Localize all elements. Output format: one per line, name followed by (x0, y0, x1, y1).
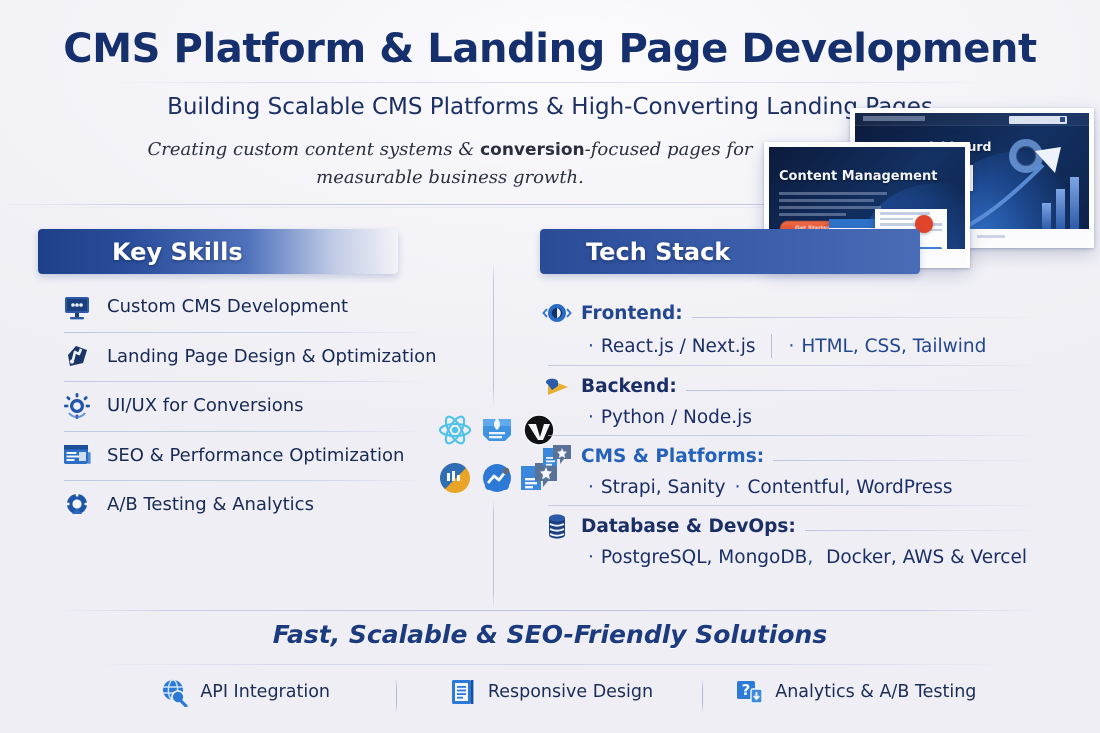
stack-category-label: Database & DevOps: (581, 516, 796, 537)
title-divider (108, 82, 992, 83)
footer-item-analytics-testing[interactable]: ? Analytics & A/B Testing (703, 677, 1008, 707)
chat-document-icon (542, 441, 572, 471)
tagline-part-1: Creating custom content systems & (147, 139, 480, 160)
stack-category-label: CMS & Platforms: (581, 446, 764, 467)
code-eye-icon (542, 298, 572, 328)
footer-item-label: API Integration (200, 682, 330, 702)
database-icon (542, 511, 572, 541)
dashboard-mockup-browser-bar (855, 113, 1089, 126)
footer-item-responsive-design[interactable]: Responsive Design (397, 677, 702, 707)
list-item[interactable]: A/B Testing & Analytics (62, 480, 422, 530)
stack-group-cms: CMS & Platforms: ·Strapi, Sanity ·Conten… (542, 435, 1042, 505)
stack-category-rule (773, 460, 1042, 461)
react-logo (436, 411, 474, 449)
stack-item[interactable]: ·React.js / Next.js (588, 336, 755, 357)
stack-item-separator (771, 334, 772, 358)
browser-window-icon (62, 440, 92, 470)
analytics-chart-logo (478, 459, 516, 497)
footer-top-divider (60, 610, 1040, 611)
dashboard-mockup-nav-placeholder (863, 116, 925, 121)
list-item-label: A/B Testing & Analytics (107, 494, 314, 515)
infographic-poster: CMS Platform & Landing Page Development … (0, 0, 1100, 733)
page-title: CMS Platform & Landing Page Development (0, 26, 1100, 72)
list-item-label: UI/UX for Conversions (107, 395, 304, 416)
stack-item[interactable]: ·HTML, CSS, Tailwind (788, 336, 986, 357)
mongodb-leaf-logo (478, 411, 516, 449)
key-skills-heading: Key Skills (38, 238, 243, 266)
stack-item[interactable]: ·Strapi, Sanity (588, 477, 726, 498)
stack-item[interactable]: ·Python / Node.js (588, 407, 752, 428)
list-item-label: SEO & Performance Optimization (107, 445, 404, 466)
stack-group-header: Database & DevOps: (542, 511, 1042, 541)
funnel-icon (542, 371, 572, 401)
cms-mockup-body-text (779, 192, 887, 220)
tech-stack-heading: Tech Stack (540, 238, 730, 266)
stack-group-items: ·PostgreSQL, MongoDB , Docker, AWS & Ver… (542, 547, 1042, 568)
globe-search-icon (159, 677, 189, 707)
stack-category-rule (692, 317, 1042, 318)
page-tagline: Creating custom content systems & conver… (140, 136, 760, 192)
list-item[interactable]: UI/UX for Conversions (62, 381, 422, 431)
column-divider-lower (493, 500, 494, 608)
cms-mockup-title: Content Management (779, 169, 937, 184)
stack-group-items: ·React.js / Next.js ·HTML, CSS, Tailwind (542, 334, 1042, 358)
dashboard-mockup-bar-chart (1042, 177, 1079, 229)
footer-item-api-integration[interactable]: API Integration (92, 677, 397, 707)
stack-group-items: ·Python / Node.js (542, 407, 1042, 428)
key-skills-list: Custom CMS Development Landing Page Desi… (62, 282, 422, 530)
dashboard-mockup-url-pill (1009, 116, 1067, 124)
stack-item[interactable]: , Docker, AWS & Vercel (807, 547, 1027, 568)
document-book-icon (447, 677, 477, 707)
stack-item[interactable]: ·PostgreSQL, MongoDB (588, 547, 807, 568)
list-item[interactable]: SEO & Performance Optimization (62, 431, 422, 481)
svg-text:?: ? (742, 681, 751, 699)
list-item-label: Custom CMS Development (107, 296, 348, 317)
list-item[interactable]: Custom CMS Development (62, 282, 422, 332)
stack-group-database: Database & DevOps: ·PostgreSQL, MongoDB … (542, 505, 1042, 575)
gear-settings-icon (62, 391, 92, 421)
stack-group-header: Backend: (542, 371, 1042, 401)
footer-items-divider (92, 664, 1008, 665)
key-skills-panel-header: Key Skills (38, 229, 398, 274)
tagline-emphasis: conversion (480, 140, 585, 160)
column-divider-upper (493, 262, 494, 407)
stack-category-rule (686, 390, 1042, 391)
python-logo (436, 459, 474, 497)
footer-item-label: Responsive Design (488, 682, 653, 702)
stack-group-header: Frontend: (542, 298, 1042, 328)
stack-item[interactable]: ·Contentful, WordPress (735, 477, 953, 498)
monitor-dots-icon (62, 292, 92, 322)
question-badge-icon: ? (734, 677, 764, 707)
footer-item-label: Analytics & A/B Testing (775, 682, 976, 702)
stack-category-rule (805, 530, 1042, 531)
tech-stack-list: Frontend: ·React.js / Next.js ·HTML, CSS… (542, 292, 1042, 575)
stack-group-frontend: Frontend: ·React.js / Next.js ·HTML, CSS… (542, 292, 1042, 365)
footer-feature-list: API Integration Responsive Design ? Anal… (92, 672, 1008, 712)
tech-stack-panel-header: Tech Stack (540, 229, 920, 274)
list-item-label: Landing Page Design & Optimization (107, 346, 437, 367)
stack-category-label: Frontend: (581, 303, 683, 324)
stack-category-label: Backend: (581, 376, 677, 397)
cog-analytics-icon (62, 490, 92, 520)
tag-wrench-icon (62, 341, 92, 371)
list-item[interactable]: Landing Page Design & Optimization (62, 332, 422, 382)
stack-group-header: CMS & Platforms: (542, 441, 1042, 471)
stack-group-backend: Backend: ·Python / Node.js (542, 365, 1042, 435)
footer-tagline: Fast, Scalable & SEO-Friendly Solutions (0, 620, 1100, 649)
stack-group-items: ·Strapi, Sanity ·Contentful, WordPress (542, 477, 1042, 498)
